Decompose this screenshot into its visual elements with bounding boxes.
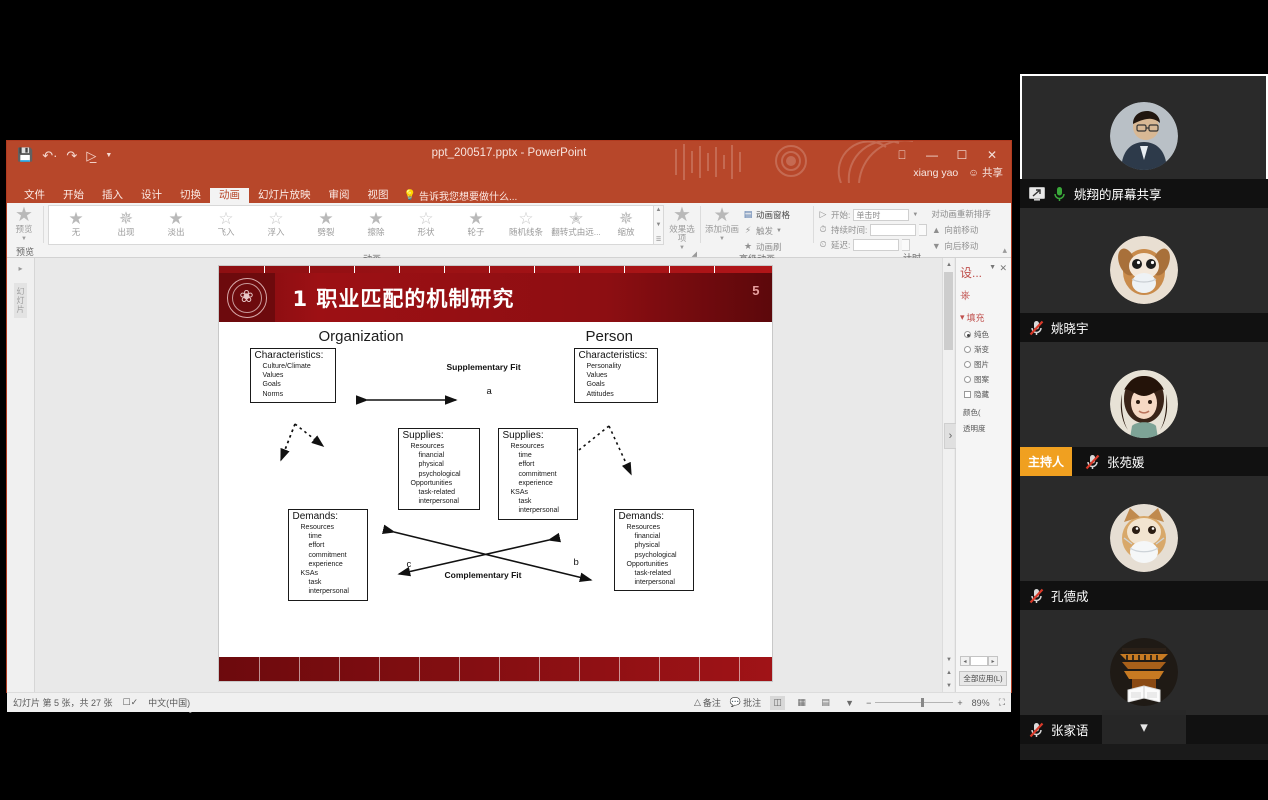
path-a-label: a (487, 386, 492, 397)
avatar (1110, 504, 1178, 572)
avatar (1110, 102, 1178, 170)
microphone-muted-icon (1085, 454, 1100, 470)
avatar-image (1110, 370, 1178, 438)
fill-option-picture[interactable]: 图片 (960, 357, 1007, 372)
star-plus-icon: ★ (713, 207, 730, 224)
hide-label: 隐藏 (974, 389, 989, 400)
stepper-left-icon[interactable]: ◂ (960, 656, 970, 666)
avatar (1110, 236, 1178, 304)
path-c-label: c (407, 559, 412, 570)
arrow-up-icon: ▲ (931, 225, 941, 235)
delay-spinner[interactable] (902, 239, 910, 251)
tab-slideshow[interactable]: 幻灯片放映 (249, 188, 320, 204)
trigger-button[interactable]: ⚡ 触发 ▼ (743, 224, 790, 237)
previous-slide-icon[interactable]: ▲ (943, 666, 955, 679)
path-b-label: b (574, 557, 579, 568)
apply-to-all-button[interactable]: 全部应用(L) (959, 671, 1007, 686)
ribbon-group-preview: ★ 预览 ▼ 预览 (7, 203, 43, 258)
effect-label: 无 (72, 228, 81, 237)
start-label: 开始: (831, 209, 850, 221)
box-title: Characteristics: (579, 350, 653, 362)
logo-inner-ring: ❀ (232, 283, 262, 313)
avatar (1110, 638, 1178, 706)
star-spin-icon: ✭ (569, 210, 583, 227)
box-item: task (503, 497, 573, 506)
option-label: 渐变 (974, 344, 989, 355)
participant-name: 孔德成 (1051, 586, 1089, 605)
tab-view[interactable]: 视图 (359, 188, 398, 204)
language-label[interactable]: 中文(中国) (148, 696, 190, 709)
arrow-down-icon: ▼ (931, 241, 941, 251)
box-item: Values (579, 371, 653, 380)
box-item: interpersonal (403, 497, 475, 506)
slide-vertical-scrollbar[interactable]: ▲ ▼ ▲ ▼ (942, 258, 954, 692)
pane-options-icon[interactable]: ▼ (989, 264, 996, 271)
box-item: physical (619, 541, 689, 550)
microphone-muted-icon (1029, 320, 1044, 336)
radio-icon (964, 346, 971, 353)
box-item: Norms (255, 390, 331, 399)
participant-name: 姚晓宇 (1051, 318, 1089, 337)
title-bar: 💾 ↶· ↷ ▷̲ ▼ ppt_200517.pptx - PowerPoint… (7, 141, 1011, 183)
effect-label: 翻转式由远... (551, 228, 601, 237)
effect-wheel[interactable]: ★ 轮子 (451, 207, 501, 237)
participant-name-bar: 主持人 张苑媛 (1020, 447, 1268, 476)
box-title: Characteristics: (255, 350, 331, 362)
tab-review[interactable]: 审阅 (320, 188, 359, 204)
avatar (1110, 370, 1178, 438)
fill-option-solid[interactable]: 纯色 (960, 327, 1007, 342)
avatar-image (1110, 504, 1178, 572)
duration-field[interactable]: ⏱ 持续时间: (818, 223, 927, 236)
scroll-up-icon[interactable]: ▲ (943, 258, 955, 271)
box-item: Resources (619, 523, 689, 532)
box-item: Resources (293, 523, 363, 532)
duration-label: 持续时间: (831, 224, 867, 236)
stepper-value[interactable] (970, 656, 988, 666)
slide-number: 5 (752, 283, 759, 298)
slide-title[interactable]: 1 职业匹配的机制研究 (275, 283, 515, 313)
slide-bottom-bar (219, 657, 772, 681)
animation-pane-label: 动画窗格 (756, 209, 790, 221)
share-button[interactable]: ☺ 共享 (968, 165, 1003, 180)
box-item: interpersonal (293, 587, 363, 596)
animation-pane-button[interactable]: ▤ 动画窗格 (743, 208, 790, 221)
zoom-out-icon[interactable]: − (866, 698, 871, 708)
star-icon: ★ (68, 210, 83, 227)
powerpoint-window: 💾 ↶· ↷ ▷̲ ▼ ppt_200517.pptx - PowerPoint… (7, 141, 1011, 692)
host-badge: 主持人 (1020, 447, 1072, 476)
tab-animations[interactable]: 动画 (210, 188, 249, 204)
participant-name-bar: 姚翔的屏幕共享 (1020, 179, 1268, 208)
ribbon-group-advanced-animation: ★ 添加动画 ▼ ▤ 动画窗格 ⚡ 触发 ▼ (701, 203, 813, 258)
preview-caret-icon[interactable]: ▼ (21, 235, 27, 244)
box-item: psychological (619, 551, 689, 560)
comments-label: 批注 (743, 696, 761, 709)
tab-insert[interactable]: 插入 (93, 188, 132, 204)
box-org-characteristics[interactable]: Characteristics: Culture/Climate Values … (250, 348, 336, 403)
box-item: financial (619, 532, 689, 541)
chevron-down-icon: ▾ (1140, 718, 1148, 736)
box-item: task-related (619, 569, 689, 578)
fill-section-label: 填充 (967, 311, 985, 324)
box-item: Attitudes (579, 390, 653, 399)
microphone-icon (1052, 186, 1067, 202)
box-items: Culture/Climate Values Goals Norms (255, 362, 331, 399)
zoom-handle[interactable] (921, 698, 924, 707)
chevron-down-icon[interactable]: ▼ (776, 228, 782, 234)
effect-fade[interactable]: ★ 淡出 (151, 207, 201, 237)
delay-clock-icon: ⏲ (818, 239, 828, 250)
delay-value[interactable] (853, 239, 899, 251)
box-item: experience (293, 560, 363, 569)
comments-button[interactable]: 💬 批注 (730, 696, 761, 709)
ribbon-display-options-icon[interactable]: ⎕ (887, 144, 917, 166)
box-item: Opportunities (403, 479, 475, 488)
share-label: 共享 (982, 165, 1003, 180)
pku-seal-glyph: ❀ (239, 289, 253, 306)
effect-wipe[interactable]: ★ 擦除 (351, 207, 401, 237)
status-right-group: △ 备注 💬 批注 ◫ ▦ ▤ ▼ − + 89% (694, 696, 1005, 710)
checkbox-icon (964, 391, 971, 398)
color-field-label[interactable]: 颜色( (960, 402, 1007, 418)
box-item: effort (293, 541, 363, 550)
effect-float-in[interactable]: ☆ 浮入 (251, 207, 301, 237)
avatar-image (1110, 236, 1178, 304)
pku-logo: ❀ (219, 273, 275, 322)
box-item: experience (503, 479, 573, 488)
star-icon: ★ (168, 210, 183, 227)
accessibility-icon[interactable]: ☐✓ (123, 697, 139, 708)
participant-name: 张苑媛 (1107, 452, 1145, 471)
avatar-image (1110, 638, 1178, 706)
meeting-participant-sidebar: 姚翔的屏幕共享 (1020, 74, 1268, 760)
ribbon-group-timing: ▷ 开始: 单击时 ▼ ⏱ 持续时间: ⏲ (814, 203, 1010, 258)
star-play-icon: ★ (15, 207, 33, 224)
add-animation-button[interactable]: ★ 添加动画 ▼ (705, 205, 739, 244)
zoom-in-icon[interactable]: + (957, 698, 962, 708)
option-label: 图片 (974, 359, 989, 370)
effect-split[interactable]: ★ 劈裂 (301, 207, 351, 237)
box-org-demands[interactable]: Demands: Resources time effort commitmen… (288, 509, 368, 601)
animation-pane-icon: ▤ (743, 209, 753, 220)
move-earlier-label: 向前移动 (944, 224, 978, 236)
format-shape-pane: 设... ▼ ✕ ⎈ ▾ 填充 纯色 渐变 (955, 258, 1011, 692)
animation-gallery[interactable]: ★ 无 ✵ 出现 ★ 淡出 ☆ 飞入 (48, 205, 654, 245)
box-items: Personality Values Goals Attitudes (579, 362, 653, 399)
participant-tile[interactable]: 孔德成 (1020, 476, 1268, 610)
supplementary-fit-label: Supplementary Fit (447, 362, 521, 372)
animation-painter-button[interactable]: ★ 动画刷 (743, 240, 790, 253)
thumbnail-pane[interactable]: ▸ 幻灯片 (7, 258, 35, 692)
box-items: Resources time effort commitment experie… (293, 523, 363, 597)
effect-label: 淡出 (167, 228, 184, 237)
box-title: Demands: (293, 511, 363, 523)
box-person-demands[interactable]: Demands: Resources financial physical ps… (614, 509, 694, 591)
clock-icon: ⏱ (818, 224, 828, 235)
start-value[interactable]: 单击时 (853, 209, 909, 221)
box-item: KSAs (293, 569, 363, 578)
scroll-down-icon[interactable]: ▼ (943, 653, 955, 666)
effect-label: 飞入 (217, 228, 234, 237)
effect-label: 轮子 (467, 228, 484, 237)
gallery-scroll-down-icon[interactable]: ▼ (656, 221, 662, 229)
pane-expand-arrow[interactable]: › (944, 423, 956, 449)
restore-icon[interactable]: ☐ (947, 144, 977, 166)
screen-root: 💾 ↶· ↷ ▷̲ ▼ ppt_200517.pptx - PowerPoint… (0, 0, 1268, 800)
tab-home[interactable]: 开始 (54, 188, 93, 204)
box-title: Supplies: (503, 430, 573, 442)
star-icon: ★ (368, 210, 383, 227)
ribbon-tab-bar[interactable]: 文件 开始 插入 设计 切换 动画 幻灯片放映 审阅 视图 💡 告诉我您想要做什… (7, 183, 1011, 203)
scrollbar-thumb[interactable] (944, 272, 953, 350)
box-item: time (503, 451, 573, 460)
effect-label: 擦除 (367, 228, 384, 237)
tab-transitions[interactable]: 切换 (171, 188, 210, 204)
effect-options-label: 效果选项 (668, 225, 696, 243)
delay-label: 延迟: (831, 239, 850, 251)
fill-bucket-icon[interactable]: ⎈ (960, 287, 970, 303)
tell-me-box[interactable]: 💡 告诉我您想要做什么... (398, 188, 518, 203)
effect-shape[interactable]: ☆ 形状 (401, 207, 451, 237)
star-burst-icon: ✵ (619, 210, 633, 227)
pane-icon-row[interactable]: ⎈ (960, 281, 1007, 305)
add-animation-label: 添加动画 (705, 225, 739, 234)
effect-fly-in[interactable]: ☆ 飞入 (201, 207, 251, 237)
box-item: Values (255, 371, 331, 380)
next-slide-icon[interactable]: ▼ (943, 679, 955, 692)
star-brush-icon: ★ (743, 241, 753, 252)
slide-count-label[interactable]: 幻灯片 第 5 张，共 27 张 (13, 696, 113, 709)
star-icon: ★ (673, 207, 691, 224)
notes-label: 备注 (703, 696, 721, 709)
account-area: xiang yao ☺ 共享 (913, 165, 1003, 180)
ribbon-group-animation: ★ 无 ✵ 出现 ★ 淡出 ☆ 飞入 (44, 203, 700, 258)
star-outline-icon: ☆ (268, 210, 283, 227)
preview-button[interactable]: ★ 预览 ▼ (9, 205, 39, 244)
box-item: time (293, 532, 363, 541)
expand-participants-button[interactable]: ▾ (1102, 710, 1186, 744)
stepper-right-icon[interactable]: ▸ (988, 656, 998, 666)
box-title: Demands: (619, 511, 689, 523)
participant-name: 张家语 (1051, 720, 1089, 739)
box-org-supplies[interactable]: Supplies: Resources financial physical p… (398, 428, 480, 510)
fit-to-window-icon[interactable]: ⛶ (999, 697, 1005, 708)
collapse-ribbon-icon[interactable]: ▴ (1002, 245, 1007, 256)
animation-painter-label: 动画刷 (756, 241, 782, 253)
notes-button[interactable]: △ 备注 (694, 696, 721, 709)
trigger-label: 触发 (756, 225, 773, 237)
status-bar: 幻灯片 第 5 张，共 27 张 ☐✓ 中文(中国) △ 备注 💬 批注 ◫ ▦… (7, 692, 1011, 712)
close-pane-icon[interactable]: ✕ (999, 263, 1007, 274)
box-items: Resources financial physical psychologic… (619, 523, 689, 587)
organization-heading: Organization (319, 328, 404, 345)
box-item: Goals (255, 380, 331, 389)
box-item: task (293, 578, 363, 587)
effect-label: 缩放 (617, 228, 634, 237)
fill-option-pattern[interactable]: 图案 (960, 372, 1007, 387)
radio-icon (964, 331, 971, 338)
effect-options-button[interactable]: ★ 效果选项 ▼ (668, 205, 696, 253)
box-title: Supplies: (403, 430, 475, 442)
microphone-muted-icon (1029, 588, 1044, 604)
participant-tile[interactable]: 姚翔的屏幕共享 (1020, 74, 1268, 208)
star-outline-icon: ☆ (518, 210, 533, 227)
box-person-supplies[interactable]: Supplies: Resources time effort commitme… (498, 428, 578, 520)
box-item: Resources (503, 442, 573, 451)
effect-appear[interactable]: ✵ 出现 (101, 207, 151, 237)
duration-value[interactable] (870, 224, 916, 236)
slide-area: ❀ 1 职业匹配的机制研究 5 (35, 258, 955, 692)
option-label: 图案 (974, 374, 989, 385)
tell-me-label: 告诉我您想要做什么... (419, 188, 517, 203)
outline-pane-tab[interactable]: 幻灯片 (14, 283, 27, 318)
transparency-field-label[interactable]: 透明度 (960, 418, 1007, 434)
complementary-fit-label: Complementary Fit (445, 570, 522, 580)
slide-header: ❀ 1 职业匹配的机制研究 5 (219, 273, 772, 322)
box-item: commitment (503, 470, 573, 479)
zoom-track[interactable] (875, 702, 953, 703)
effect-label: 浮入 (267, 228, 284, 237)
pe-fit-diagram[interactable]: Organization Person Supplementary Fit a … (219, 324, 772, 654)
effect-zoom[interactable]: ✵ 缩放 (601, 207, 651, 237)
box-items: Resources financial physical psychologic… (403, 442, 475, 506)
effect-none[interactable]: ★ 无 (51, 207, 101, 237)
star-outline-icon: ☆ (418, 210, 433, 227)
box-item: interpersonal (619, 578, 689, 587)
tab-design[interactable]: 设计 (132, 188, 171, 204)
transparency-stepper[interactable]: ◂ ▸ (960, 656, 998, 666)
window-controls[interactable]: ⎕ — ☐ ✕ (887, 144, 1007, 166)
effect-label: 劈裂 (317, 228, 334, 237)
preview-label: 预览 (15, 225, 32, 234)
reorder-title: 对动画重新排序 (931, 208, 991, 220)
box-item: Personality (579, 362, 653, 371)
box-item: Culture/Climate (255, 362, 331, 371)
zoom-level-label[interactable]: 89% (972, 698, 990, 708)
close-icon[interactable]: ✕ (977, 144, 1007, 166)
participant-name-bar: 姚晓宇 (1020, 313, 1268, 342)
expand-triangle-icon: ▾ (960, 312, 965, 323)
start-field[interactable]: ▷ 开始: 单击时 ▼ (818, 208, 927, 221)
box-item: interpersonal (503, 506, 573, 515)
box-item: effort (503, 460, 573, 469)
effect-label: 形状 (417, 228, 434, 237)
box-item: psychological (403, 470, 475, 479)
slide-top-strip (219, 266, 772, 273)
trigger-icon: ⚡ (743, 225, 753, 236)
slide-canvas[interactable]: ❀ 1 职业匹配的机制研究 5 (219, 266, 772, 681)
star-outline-icon: ☆ (218, 210, 233, 227)
normal-view-button[interactable]: ◫ (770, 696, 785, 710)
box-item: KSAs (503, 488, 573, 497)
microphone-muted-icon (1029, 722, 1044, 738)
participant-tile[interactable]: 姚晓宇 (1020, 208, 1268, 342)
person-icon: ☺ (968, 167, 979, 179)
effect-flip-from-far[interactable]: ✭ 翻转式由远... (551, 207, 601, 237)
reading-view-button[interactable]: ▤ (818, 696, 833, 710)
box-item: financial (403, 451, 475, 460)
hide-checkbox-row[interactable]: 隐藏 (960, 387, 1007, 402)
star-icon: ★ (468, 210, 483, 227)
radio-icon (964, 376, 971, 383)
radio-icon (964, 361, 971, 368)
lightbulb-icon: 💡 (404, 190, 416, 201)
box-item: Goals (579, 380, 653, 389)
logo-outer-ring: ❀ (227, 278, 267, 318)
move-later-label: 向后移动 (944, 240, 978, 252)
play-icon: ▷ (818, 209, 828, 220)
screen-share-icon (1029, 187, 1045, 201)
box-items: Resources time effort commitment experie… (503, 442, 573, 516)
star-burst-icon: ✵ (119, 210, 133, 227)
user-name[interactable]: xiang yao (913, 167, 958, 179)
participant-name-bar: 孔德成 (1020, 581, 1268, 610)
move-later-button[interactable]: ▼ 向后移动 (931, 239, 991, 252)
notes-icon: △ (694, 697, 701, 708)
chevron-down-icon[interactable]: ▼ (912, 212, 918, 218)
expand-thumbnails-icon[interactable]: ▸ (18, 264, 22, 273)
effect-random-bars[interactable]: ☆ 随机线条 (501, 207, 551, 237)
tab-file[interactable]: 文件 (15, 188, 54, 204)
workspace: ▸ 幻灯片 (7, 258, 1011, 692)
comment-icon: 💬 (730, 697, 741, 708)
box-item: Resources (403, 442, 475, 451)
box-item: Opportunities (619, 560, 689, 569)
duration-spinner[interactable] (919, 224, 927, 236)
option-label: 纯色 (974, 329, 989, 340)
gallery-more-icon[interactable]: ☰ (656, 236, 661, 244)
ribbon: ★ 预览 ▼ 预览 ★ 无 ✵ (7, 203, 1011, 258)
animation-dialog-launcher[interactable]: ◢ (692, 250, 697, 258)
gallery-scrollbar[interactable]: ▲ ▼ ☰ (654, 205, 664, 245)
zoom-slider[interactable]: − + (866, 698, 963, 708)
box-person-characteristics[interactable]: Characteristics: Personality Values Goal… (574, 348, 658, 403)
avatar-image (1110, 102, 1178, 170)
effect-label: 随机线条 (509, 228, 543, 237)
window-title: ppt_200517.pptx - PowerPoint (7, 147, 1011, 159)
delay-field[interactable]: ⏲ 延迟: (818, 238, 927, 251)
gallery-scroll-up-icon[interactable]: ▲ (656, 206, 662, 214)
box-item: physical (403, 460, 475, 469)
fill-section-header[interactable]: ▾ 填充 (960, 305, 1007, 327)
person-heading: Person (586, 328, 634, 345)
box-item: task-related (403, 488, 475, 497)
slideshow-view-button[interactable]: ▼ (842, 696, 857, 710)
move-earlier-button[interactable]: ▲ 向前移动 (931, 223, 991, 236)
participant-name: 姚翔的屏幕共享 (1074, 184, 1162, 203)
chevron-down-icon[interactable]: ▼ (719, 235, 725, 244)
fill-option-gradient[interactable]: 渐变 (960, 342, 1007, 357)
minimize-icon[interactable]: — (917, 144, 947, 166)
preview-group-title: 预览 (7, 246, 43, 258)
participant-tile[interactable]: 主持人 张苑媛 (1020, 342, 1268, 476)
box-item: commitment (293, 551, 363, 560)
chevron-down-icon[interactable]: ▼ (679, 244, 685, 253)
effect-label: 出现 (117, 228, 134, 237)
star-icon: ★ (318, 210, 333, 227)
slide-sorter-view-button[interactable]: ▦ (794, 696, 809, 710)
participant-tile[interactable]: 张家语 ▾ (1020, 610, 1268, 744)
